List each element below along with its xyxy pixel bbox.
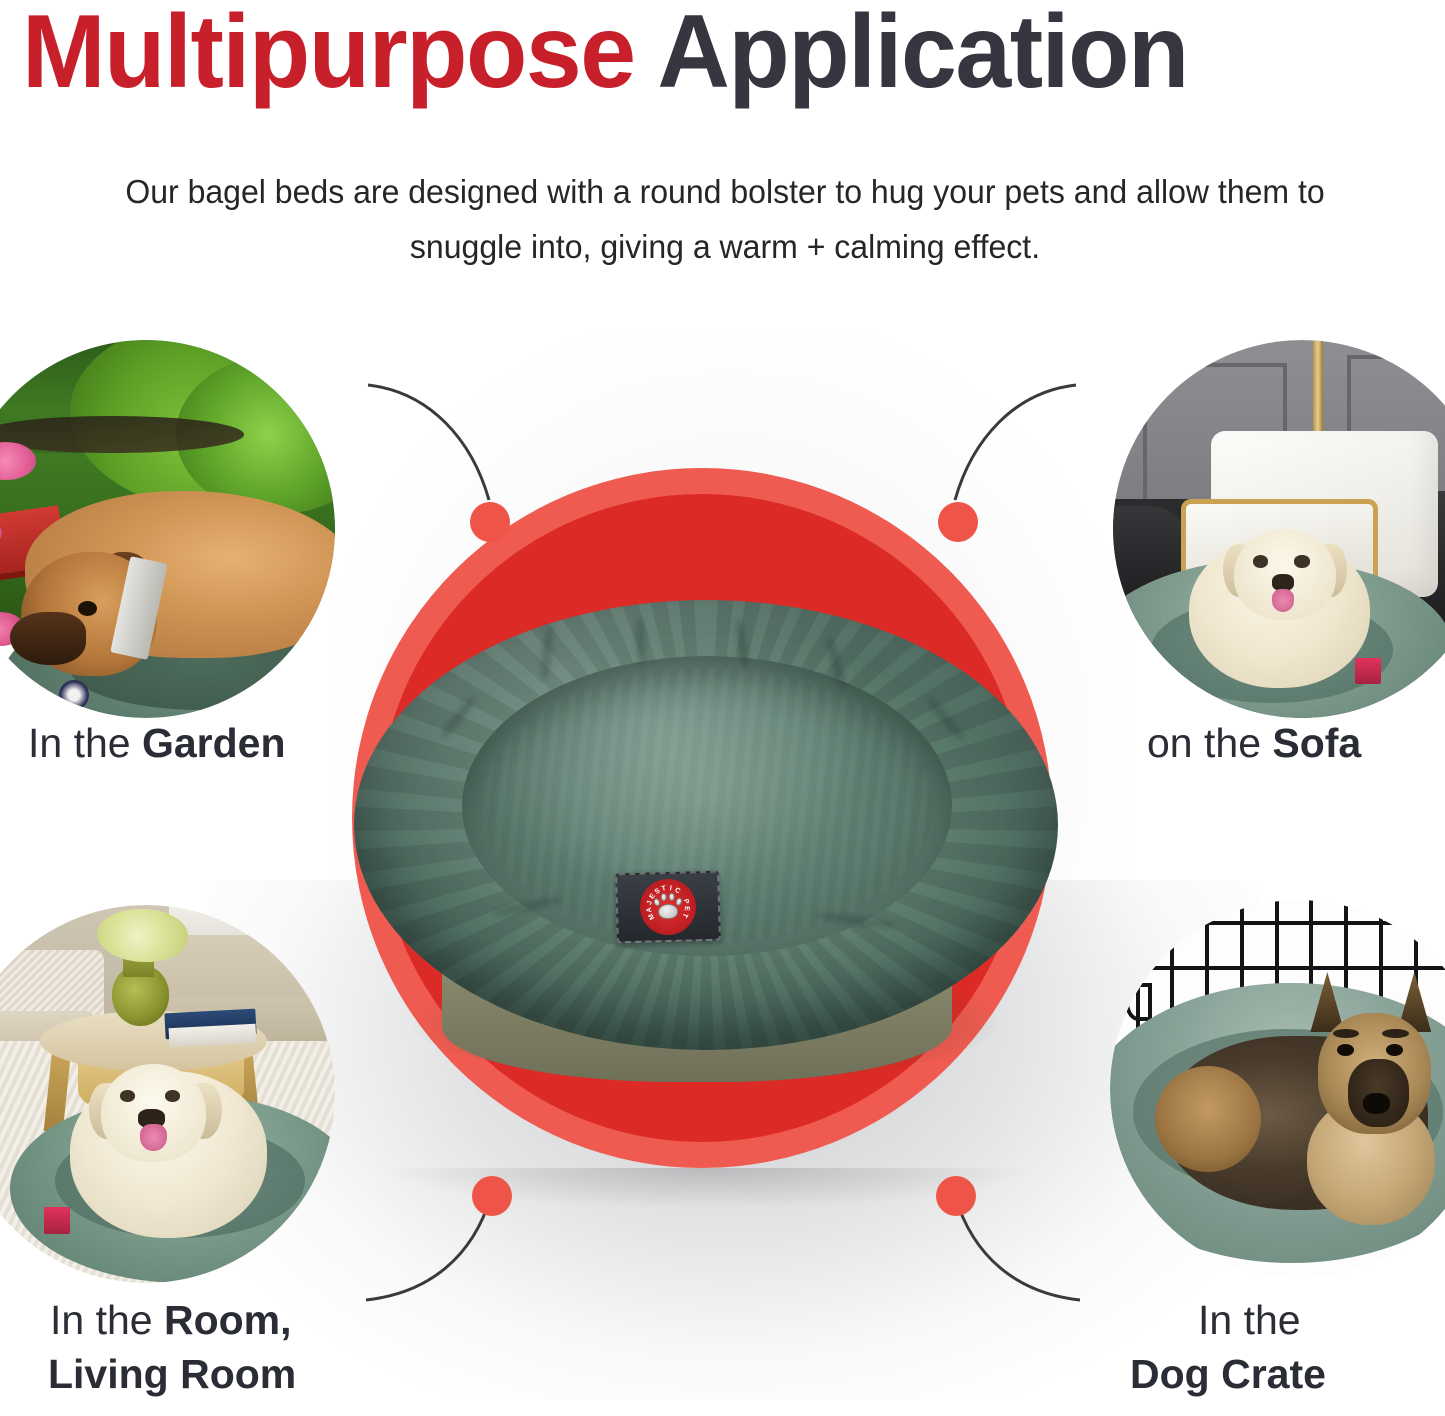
dog-crate-photo (1110, 900, 1445, 1278)
page-subtitle-line2: snuggle into, giving a warm + calming ef… (75, 219, 1375, 274)
scene-label-room-keyword-line2: Living Room (48, 1347, 296, 1401)
brand-tag-badge: MAJESTIC PET (639, 878, 696, 935)
center-product-showcase: MAJESTIC PET (352, 468, 1088, 1204)
page-subtitle: Our bagel beds are designed with a round… (75, 164, 1375, 274)
crate-dog-eye (1386, 1044, 1403, 1056)
scene-photo-garden[interactable] (0, 340, 335, 718)
connector-line-room (366, 1196, 491, 1300)
scene-label-garden-prefix: In the (28, 720, 142, 766)
infographic-page: Multipurpose Application Our bagel beds … (0, 0, 1445, 1416)
scene-label-garden: In the Garden (28, 716, 286, 770)
scene-label-room-keyword: Room, (164, 1297, 292, 1343)
sofa-bed-brand-tag (1355, 658, 1381, 684)
crate-dog-brow (1333, 1029, 1359, 1038)
paw-print-icon (653, 892, 684, 923)
connector-dot-sofa (938, 502, 978, 542)
scene-label-crate-keyword-line2: Dog Crate (1130, 1347, 1326, 1401)
brand-tag: MAJESTIC PET (615, 871, 721, 944)
room-dog-eye (165, 1090, 180, 1101)
connector-dot-crate (936, 1176, 976, 1216)
scene-photo-living-room[interactable] (0, 905, 335, 1283)
scene-label-sofa: on the Sofa (1147, 716, 1361, 770)
connector-dot-garden (470, 502, 510, 542)
scene-label-living-room: In the Room, Living Room (50, 1293, 292, 1347)
page-title-part1: Multipurpose (22, 0, 635, 110)
room-dog-eye (120, 1090, 135, 1101)
garden-dog-eye (78, 601, 97, 616)
connector-line-crate (955, 1196, 1080, 1300)
garden-dog-muzzle (10, 612, 86, 665)
crate-dog-eye (1337, 1044, 1354, 1056)
crate-dog-haunch (1155, 1066, 1261, 1172)
connector-dot-room (472, 1176, 512, 1216)
crate-dog-nose (1363, 1093, 1389, 1114)
scene-label-sofa-prefix: on the (1147, 720, 1272, 766)
page-subtitle-line1: Our bagel beds are designed with a round… (75, 164, 1375, 219)
page-title-part2: Application (657, 0, 1187, 110)
crate-dog-brow (1382, 1029, 1408, 1038)
scene-label-garden-keyword: Garden (142, 720, 286, 766)
scene-label-dog-crate: In the Dog Crate (1198, 1293, 1301, 1347)
scene-label-room-prefix: In the (50, 1297, 164, 1343)
garden-photo (0, 340, 335, 718)
scene-label-crate-prefix: In the (1198, 1297, 1301, 1343)
living-room-photo (0, 905, 335, 1283)
sofa-dog-eye (1294, 555, 1309, 567)
scene-photo-dog-crate[interactable] (1110, 900, 1445, 1278)
scene-photo-sofa[interactable] (1113, 340, 1445, 718)
sofa-photo (1113, 340, 1445, 718)
scene-label-sofa-keyword: Sofa (1272, 720, 1361, 766)
room-hydrangea-flowers (97, 909, 188, 962)
room-dog-tongue (140, 1124, 166, 1150)
crate-latch-icon (1125, 983, 1151, 1021)
page-title: Multipurpose Application (22, 0, 1392, 108)
room-bed-brand-tag (44, 1207, 70, 1233)
sofa-dog-eye (1253, 555, 1268, 567)
hero-product-dog-bed: MAJESTIC PET (346, 572, 1066, 1092)
